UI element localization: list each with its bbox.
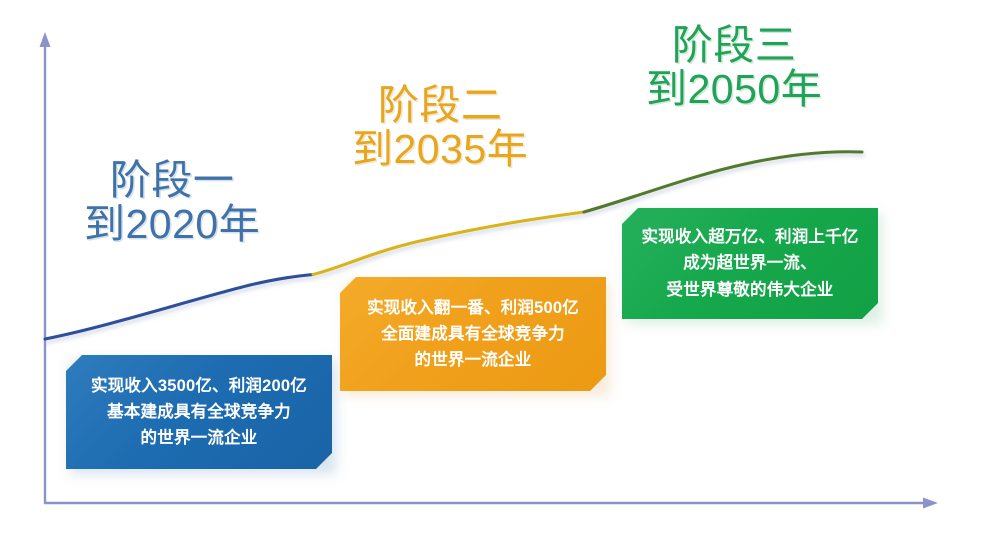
curve-segment-stage-2: [313, 212, 584, 275]
stage-heading-2-line2: 到2035年: [352, 127, 528, 171]
stage-heading-3: 阶段三 到2050年: [646, 23, 822, 112]
stage-heading-1: 阶段一 到2020年: [84, 158, 260, 247]
stage-heading-2: 阶段二 到2035年: [352, 83, 528, 172]
callout-box-stage-3: 实现收入超万亿、利润上千亿 成为超世界一流、 受世界尊敬的伟大企业: [622, 208, 878, 319]
callout-2-line-3: 的世界一流企业: [415, 347, 532, 373]
callout-1-line-1: 实现收入3500亿、利润200亿: [91, 373, 307, 399]
callout-3-line-1: 实现收入超万亿、利润上千亿: [641, 224, 858, 250]
callout-box-stage-2: 实现收入翻一番、利润500亿 全面建成具有全球竞争力 的世界一流企业: [340, 277, 606, 391]
stage-heading-1-line2: 到2020年: [84, 202, 260, 246]
curve-segment-stage-3: [584, 152, 862, 212]
callout-2-line-1: 实现收入翻一番、利润500亿: [367, 295, 579, 321]
stage-heading-2-line1: 阶段二: [352, 83, 528, 127]
curve-segment-stage-1: [45, 275, 313, 340]
stage-heading-3-line2: 到2050年: [646, 67, 822, 111]
slide-canvas: 阶段一 到2020年 阶段二 到2035年 阶段三 到2050年 实现收入350…: [0, 0, 984, 533]
stage-heading-3-line1: 阶段三: [646, 23, 822, 67]
callout-3-line-2: 成为超世界一流、: [683, 250, 817, 276]
stage-heading-1-line1: 阶段一: [84, 158, 260, 202]
callout-1-line-2: 基本建成具有全球竞争力: [107, 399, 291, 425]
callout-2-line-2: 全面建成具有全球竞争力: [381, 321, 565, 347]
callout-box-stage-1: 实现收入3500亿、利润200亿 基本建成具有全球竞争力 的世界一流企业: [66, 355, 332, 469]
callout-3-line-3: 受世界尊敬的伟大企业: [667, 277, 834, 303]
callout-1-line-3: 的世界一流企业: [141, 425, 258, 451]
